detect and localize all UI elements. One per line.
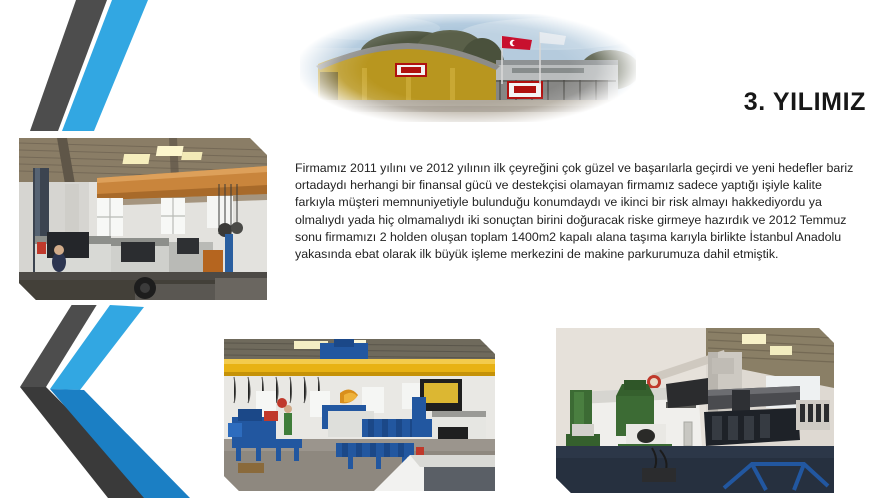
chevron-upper-blue-shape [50,305,144,390]
slide-body-text: Firmamız 2011 yılını ve 2012 yılının ilk… [295,160,857,263]
chevron-lower-dark-shape [20,387,156,498]
photo-workshop-interior-left [14,133,272,305]
photo-factory-exterior [300,14,636,122]
photo-workshop-interior-center [219,334,500,496]
photo-cnc-machines-right [551,323,839,498]
top-stripe-blue-shape [62,0,148,131]
chevron-upper-dark-shape [20,298,101,387]
top-stripe-dark-shape [30,0,107,131]
slide-title: 3. YILIMIZ [620,88,866,117]
chevron-lower-blue-shape [50,389,190,498]
